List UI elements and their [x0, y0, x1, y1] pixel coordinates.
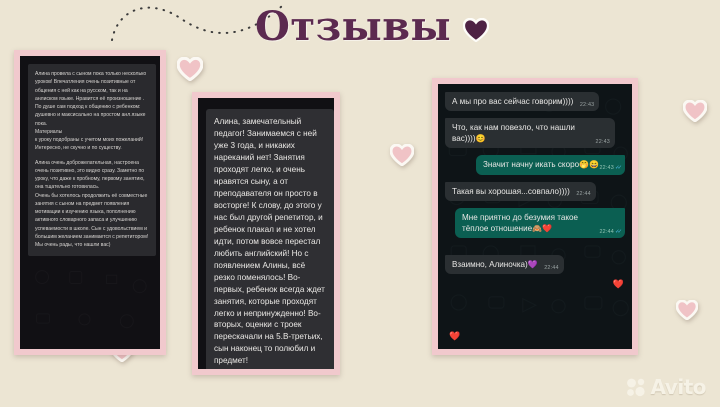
- heart-sticker-top-left: [177, 57, 203, 81]
- review-left-bubble: Алина провела с сыном пока только нескол…: [28, 64, 156, 256]
- chat-message-timestamp: 22:43✓✓: [599, 165, 620, 172]
- chat-message-timestamp: 22:44: [576, 191, 591, 198]
- review-screenshot-left[interactable]: Алина провела с сыном пока только нескол…: [14, 50, 166, 355]
- review-left-paragraph-2: Алина очень доброжелательная, настроена …: [35, 159, 149, 250]
- avito-logo-icon: [626, 378, 647, 397]
- review-middle-text: Алина, замечательный педагог! Занимаемся…: [214, 117, 325, 369]
- chat-message-text: А мы про вас сейчас говорим)))): [452, 97, 573, 106]
- review-middle-inner: Алина, замечательный педагог! Занимаемся…: [198, 98, 334, 369]
- review-screenshot-middle[interactable]: Алина, замечательный педагог! Занимаемся…: [192, 92, 340, 375]
- chat-timestamp-text: 22:43: [599, 165, 614, 171]
- chat-screenshot-right[interactable]: А мы про вас сейчас говорим)))) 22:43 Чт…: [432, 78, 638, 355]
- chat-message-out-2[interactable]: Мне приятно до безумия такое тёплое отно…: [455, 208, 625, 238]
- purple-heart-emoji: 💜: [528, 260, 538, 269]
- laughing-face-emoji: 🤭😄: [579, 160, 599, 169]
- smiling-face-emoji: 😊: [476, 134, 486, 143]
- heart-sticker-bottom-right: [676, 300, 698, 320]
- page-title-text: Отзывы: [255, 4, 451, 50]
- read-receipt-icon: ✓✓: [615, 229, 620, 235]
- poster-canvas: Отзывы: [0, 0, 720, 407]
- review-left-inner: Алина провела с сыном пока только нескол…: [20, 56, 160, 349]
- chat-message-out-1[interactable]: Значит начну икать скоро🤭😄 22:43✓✓: [476, 155, 625, 174]
- chat-message-in-1[interactable]: А мы про вас сейчас говорим)))) 22:43: [445, 92, 599, 111]
- chat-message-text: Взаимно, Алиночка): [452, 260, 528, 269]
- reaction-heart-icon-1[interactable]: ❤️: [613, 280, 624, 289]
- page-title: Отзывы: [255, 4, 489, 50]
- chat-message-text: Значит начну икать скоро: [483, 160, 579, 169]
- chat-message-in-3[interactable]: Такая вы хорошая...совпало)))) 22:44: [445, 182, 596, 201]
- avito-watermark: Avito: [626, 375, 706, 399]
- review-left-body: Алина провела с сыном пока только нескол…: [20, 56, 160, 266]
- chat-message-timestamp: 22:44: [544, 265, 559, 272]
- heart-sticker-middle: [390, 144, 414, 166]
- chat-message-text: Что, как нам повезло, что нашли вас)))): [452, 123, 575, 143]
- chat-message-text: Такая вы хорошая...совпало)))): [452, 187, 570, 196]
- chat-inner: А мы про вас сейчас говорим)))) 22:43 Чт…: [438, 84, 632, 349]
- monkey-and-heart-emoji: 🙈❤️: [532, 224, 552, 233]
- chat-timestamp-text: 22:44: [599, 229, 614, 235]
- read-receipt-icon: ✓✓: [615, 165, 620, 171]
- heart-sticker-right-top: [683, 100, 707, 122]
- chat-message-timestamp: 22:44✓✓: [599, 229, 620, 236]
- avito-wordmark: Avito: [651, 375, 706, 399]
- chat-message-list: А мы про вас сейчас говорим)))) 22:43 Чт…: [438, 84, 632, 280]
- heart-icon: [463, 18, 489, 42]
- chat-message-in-4[interactable]: Взаимно, Алиночка)💜 22:44: [445, 255, 564, 274]
- review-left-paragraph-1: Алина провела с сыном пока только нескол…: [35, 70, 149, 153]
- chat-message-timestamp: 22:43: [580, 102, 595, 109]
- review-middle-body: Алина, замечательный педагог! Занимаемся…: [198, 98, 334, 369]
- chat-message-in-2[interactable]: Что, как нам повезло, что нашли вас))))😊…: [445, 118, 615, 148]
- chat-message-timestamp: 22:43: [596, 139, 611, 146]
- chat-message-text: Мне приятно до безумия такое тёплое отно…: [462, 213, 578, 233]
- reaction-heart-icon-2[interactable]: ❤️: [449, 332, 460, 341]
- review-middle-bubble: Алина, замечательный педагог! Занимаемся…: [206, 109, 334, 369]
